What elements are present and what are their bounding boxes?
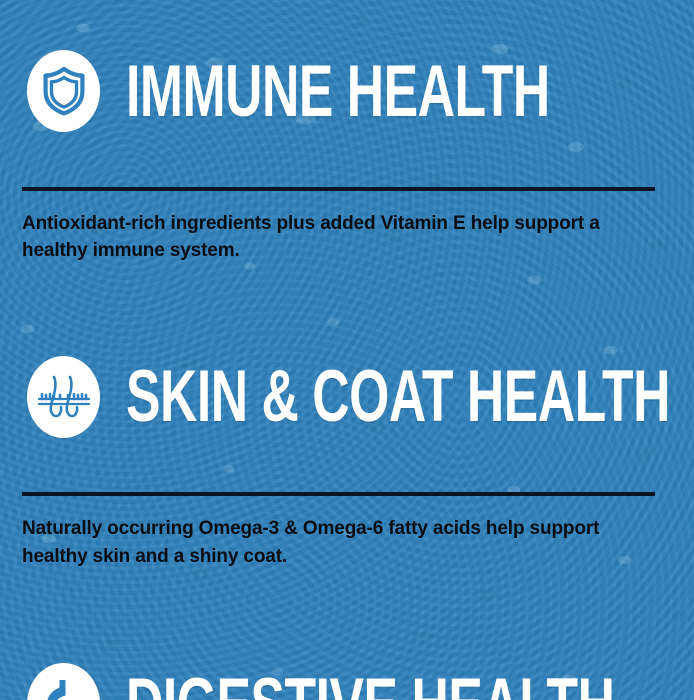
stomach-icon xyxy=(27,663,100,700)
benefit-section-immune: IMMUNE HEALTH Antioxidant-rich ingredien… xyxy=(0,0,694,265)
benefit-header-immune: IMMUNE HEALTH xyxy=(0,0,694,161)
benefit-title-immune: IMMUNE HEALTH xyxy=(126,60,550,123)
section-divider-immune xyxy=(22,187,655,191)
benefit-description-immune: Antioxidant-rich ingredients plus added … xyxy=(22,210,651,265)
benefit-title-skin-coat: SKIN & COAT HEALTH xyxy=(126,365,670,428)
benefit-section-digestive: DIGESTIVE HEALTH Fiber, plus a blend of … xyxy=(0,590,694,700)
benefit-title-digestive: DIGESTIVE HEALTH xyxy=(126,673,614,700)
benefit-header-digestive: DIGESTIVE HEALTH xyxy=(0,590,694,700)
benefit-section-skin-coat: SKIN & COAT HEALTH Naturally occurring O… xyxy=(0,284,694,570)
benefit-description-skin-coat: Naturally occurring Omega-3 & Omega-6 fa… xyxy=(22,515,651,570)
section-divider-skin-coat xyxy=(22,492,655,496)
benefit-header-skin-coat: SKIN & COAT HEALTH xyxy=(0,284,694,466)
benefits-content: IMMUNE HEALTH Antioxidant-rich ingredien… xyxy=(0,0,694,700)
hair-follicle-icon xyxy=(27,356,100,438)
benefits-panel: IMMUNE HEALTH Antioxidant-rich ingredien… xyxy=(0,0,694,700)
shield-icon xyxy=(27,50,100,132)
